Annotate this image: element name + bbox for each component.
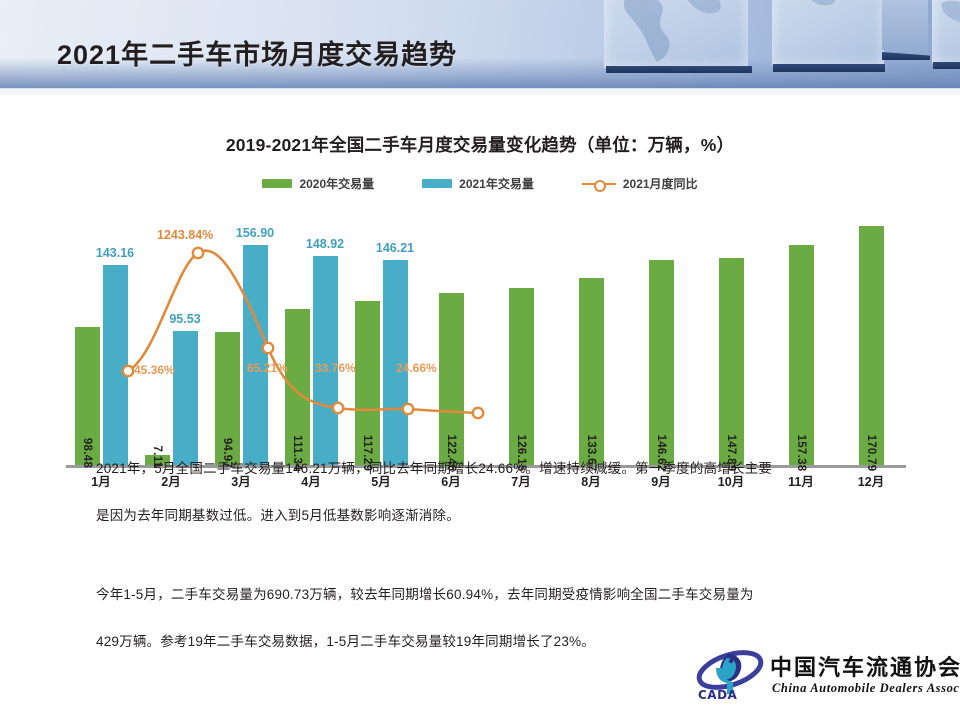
legend-label-yoy: 2021月度同比 bbox=[623, 175, 698, 192]
bar-2020[interactable]: 122.46 bbox=[439, 293, 464, 465]
bar-2020[interactable]: 147.89 bbox=[719, 258, 744, 465]
bar-group: 147.89 bbox=[696, 216, 766, 465]
bar-2021[interactable]: 156.90 bbox=[243, 245, 268, 465]
cada-abbr: CADA bbox=[698, 688, 737, 702]
chart-title: 2019-2021年全国二手车月度交易量变化趋势（单位：万辆，%） bbox=[0, 132, 960, 157]
chart-plot-area: 98.48 143.16 7.11 95.53 94.97 bbox=[66, 216, 906, 468]
banner-divider bbox=[0, 88, 960, 95]
bar-2020[interactable]: 170.79 bbox=[859, 226, 884, 465]
bar-2020[interactable]: 117.29 bbox=[355, 301, 380, 465]
legend-label-2020: 2020年交易量 bbox=[299, 175, 374, 192]
yoy-value-label: 1243.84% bbox=[157, 228, 213, 242]
3d-cube-world-map-icon bbox=[604, 0, 754, 84]
chart-legend: 2020年交易量 2021年交易量 2021月度同比 bbox=[0, 175, 960, 192]
bar-group: 111.34 148.92 bbox=[276, 216, 346, 465]
legend-item-2020[interactable]: 2020年交易量 bbox=[262, 175, 374, 192]
cada-logo: CADA 中国汽车流通协会 China Automobile Dealers A… bbox=[694, 648, 952, 710]
3d-cube-world-map-icon bbox=[772, 0, 942, 85]
logo-name-en: China Automobile Dealers Association bbox=[772, 681, 960, 696]
paragraph-line: 是因为去年同期基数过低。进入到5月低基数影响逐渐消除。 bbox=[96, 492, 886, 539]
legend-item-yoy[interactable]: 2021月度同比 bbox=[582, 175, 698, 192]
world-map-texture-icon bbox=[772, 0, 884, 66]
yoy-value-label: 24.66% bbox=[396, 361, 437, 375]
bar-group: 126.15 bbox=[486, 216, 556, 465]
bar-2020[interactable]: 111.34 bbox=[285, 309, 310, 465]
bar-value-label: 146.21 bbox=[376, 241, 414, 255]
bar-group: 170.79 bbox=[836, 216, 906, 465]
legend-swatch-green bbox=[262, 179, 292, 188]
bar-value-label: 156.90 bbox=[236, 226, 274, 240]
analysis-text: 2021年，5月全国二手车交易量146.21万辆，同比去年同期增长24.66%。… bbox=[96, 445, 886, 665]
paragraph-line: 今年1-5月，二手车交易量为690.73万辆，较去年同期增长60.94%，去年同… bbox=[96, 571, 886, 618]
logo-name-cn: 中国汽车流通协会 bbox=[770, 650, 960, 682]
yoy-value-label: 33.76% bbox=[315, 361, 356, 375]
bar-group: 7.11 95.53 bbox=[136, 216, 206, 465]
bar-group: 133.67 bbox=[556, 216, 626, 465]
legend-swatch-blue bbox=[422, 179, 452, 188]
chart-container: 2019-2021年全国二手车月度交易量变化趋势（单位：万辆，%） 2020年交… bbox=[0, 100, 960, 420]
bar-value-label: 98.48 bbox=[81, 438, 93, 468]
world-map-texture-icon bbox=[932, 0, 960, 64]
bar-value-label: 95.53 bbox=[169, 312, 200, 326]
yoy-value-label: 65.21% bbox=[247, 361, 288, 375]
bar-groups: 98.48 143.16 7.11 95.53 94.97 bbox=[66, 216, 906, 465]
bar-group: 157.38 bbox=[766, 216, 836, 465]
bar-value-label: 143.16 bbox=[96, 246, 134, 260]
bar-2020[interactable]: 133.67 bbox=[579, 278, 604, 465]
yoy-value-label: 45.36% bbox=[134, 363, 175, 377]
bar-2020[interactable]: 146.62 bbox=[649, 260, 674, 465]
bar-value-label: 148.92 bbox=[306, 237, 344, 251]
legend-line-marker-icon bbox=[582, 179, 616, 189]
page-title: 2021年二手车市场月度交易趋势 bbox=[57, 33, 457, 72]
header-banner: 2021年二手车市场月度交易趋势 bbox=[0, 0, 960, 88]
bar-group: 117.29 146.21 bbox=[346, 216, 416, 465]
bar-2021[interactable]: 143.16 bbox=[103, 265, 128, 465]
bar-2020[interactable]: 157.38 bbox=[789, 245, 814, 465]
bar-group: 146.62 bbox=[626, 216, 696, 465]
legend-item-2021[interactable]: 2021年交易量 bbox=[422, 175, 534, 192]
paragraph-spacer bbox=[96, 539, 886, 571]
legend-label-2021: 2021年交易量 bbox=[459, 175, 534, 192]
3d-cube-world-map-icon bbox=[932, 0, 960, 80]
world-map-texture-icon bbox=[604, 0, 748, 68]
bar-group: 122.46 bbox=[416, 216, 486, 465]
paragraph-line: 2021年，5月全国二手车交易量146.21万辆，同比去年同期增长24.66%。… bbox=[96, 445, 886, 492]
bar-2020[interactable]: 126.15 bbox=[509, 288, 534, 465]
bar-group: 94.97 156.90 bbox=[206, 216, 276, 465]
bar-group: 98.48 143.16 bbox=[66, 216, 136, 465]
